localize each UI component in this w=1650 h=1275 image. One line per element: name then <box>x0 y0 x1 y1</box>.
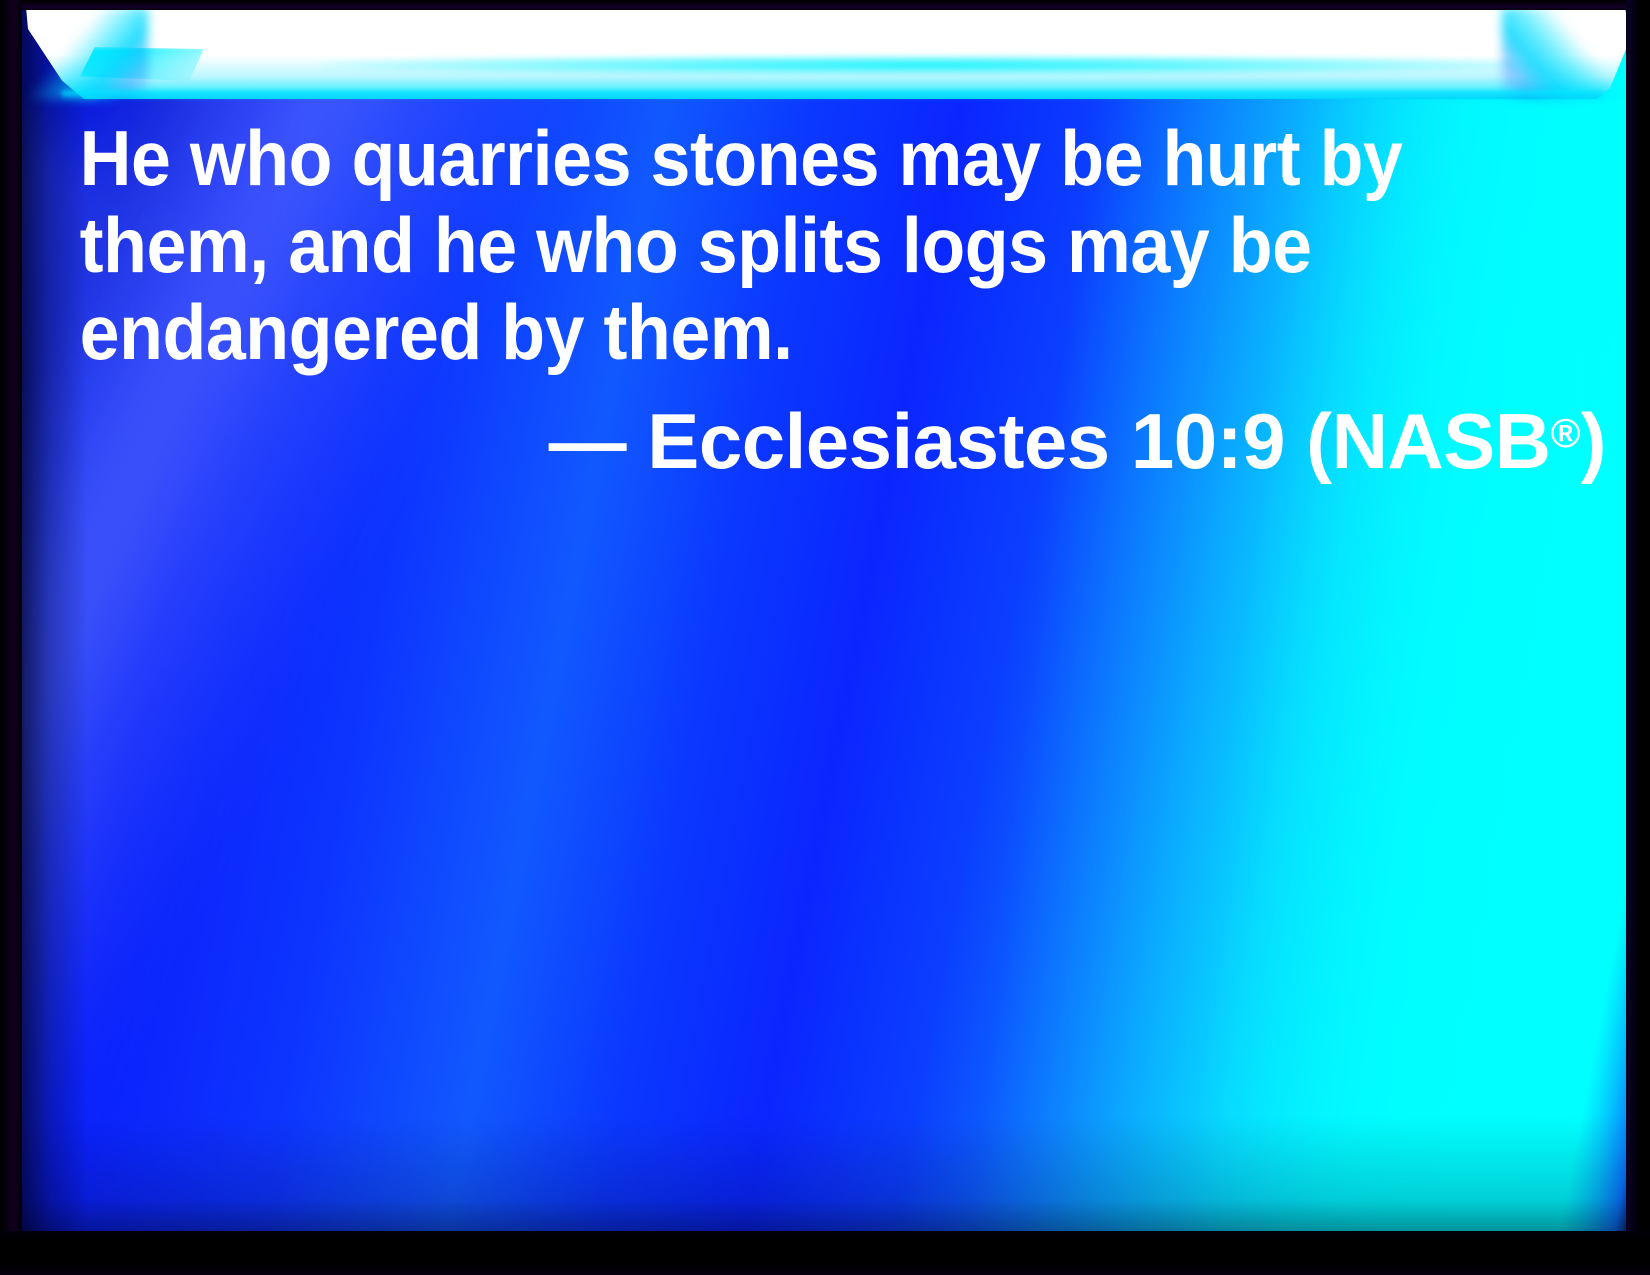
banner-left-chamfer <box>18 7 148 99</box>
top-glow-banner <box>18 7 1632 99</box>
background-bottom-shadow <box>18 1115 1632 1235</box>
verse-text-block: He who quarries stones may be hurt by th… <box>18 115 1632 485</box>
verse-line-2: them, and he who splits logs may be <box>18 202 1503 289</box>
frame-border-bottom <box>0 1231 1650 1275</box>
attribution-prefix: — Ecclesiastes 10:9 (NASB <box>549 397 1551 485</box>
registered-trademark-icon: ® <box>1551 410 1581 456</box>
banner-underline <box>62 91 1602 99</box>
verse-attribution: — Ecclesiastes 10:9 (NASB®) <box>18 376 1632 485</box>
attribution-suffix: ) <box>1581 397 1606 485</box>
verse-line-3: endangered by them. <box>18 289 1503 376</box>
verse-slide: He who quarries stones may be hurt by th… <box>0 0 1650 1275</box>
banner-right-chamfer <box>1502 7 1632 99</box>
slide-background: He who quarries stones may be hurt by th… <box>18 7 1632 1235</box>
banner-cyan-wisp <box>318 55 1538 75</box>
verse-line-1: He who quarries stones may be hurt by <box>18 115 1503 202</box>
